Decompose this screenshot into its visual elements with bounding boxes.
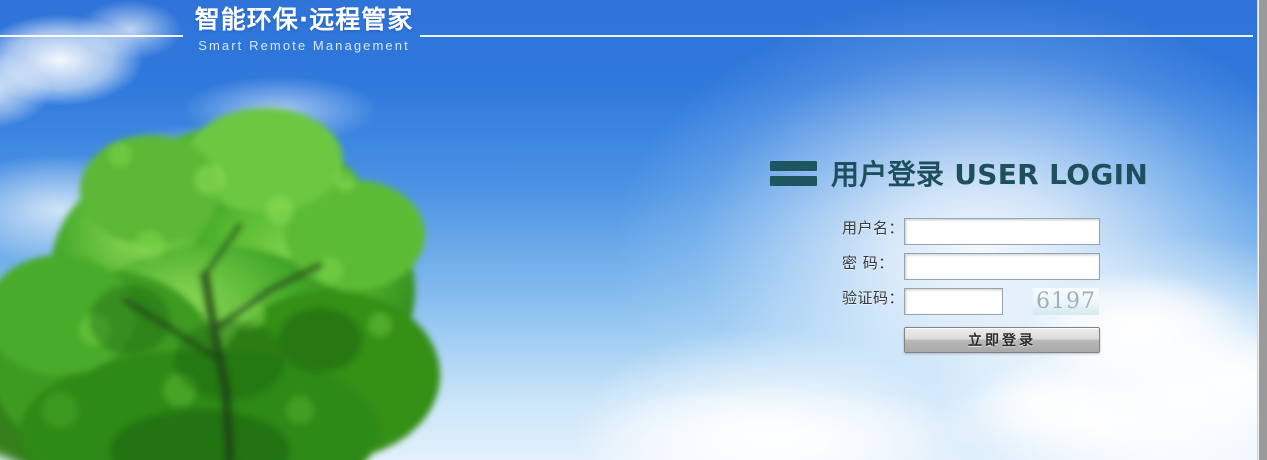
captcha-input[interactable]	[904, 288, 1003, 315]
header-rule-right	[420, 35, 1253, 37]
submit-row: 立即登录	[904, 327, 1170, 353]
brand-title-cn: 智能环保·远程管家	[190, 6, 418, 34]
login-button[interactable]: 立即登录	[904, 327, 1100, 353]
vertical-scrollbar[interactable]	[1257, 0, 1267, 460]
username-input[interactable]	[904, 218, 1100, 245]
brand-subtitle-en: Smart Remote Management	[190, 37, 418, 54]
password-input[interactable]	[904, 253, 1100, 280]
username-label: 用户名：	[842, 218, 904, 238]
password-label: 密 码：	[842, 253, 904, 273]
captcha-image[interactable]: 6197	[1033, 288, 1099, 315]
header-rule-left	[0, 35, 183, 37]
field-row-username: 用户名：	[842, 218, 1170, 245]
captcha-label: 验证码：	[842, 288, 904, 308]
login-heading: 用户登录 USER LOGIN	[770, 150, 1170, 196]
login-panel: 用户登录 USER LOGIN 用户名： 密 码： 验证码： 6197 立即登录	[770, 150, 1170, 353]
brand-block: 智能环保·远程管家 Smart Remote Management	[190, 6, 418, 54]
two-bars-icon	[770, 161, 817, 186]
site-header: 智能环保·远程管家 Smart Remote Management	[0, 0, 1257, 62]
login-page: 智能环保·远程管家 Smart Remote Management 用户登录 U…	[0, 0, 1267, 460]
login-title: 用户登录 USER LOGIN	[831, 153, 1148, 193]
scrollbar-thumb[interactable]	[1259, 0, 1267, 460]
field-row-captcha: 验证码： 6197	[842, 288, 1170, 315]
field-row-password: 密 码：	[842, 253, 1170, 280]
login-form: 用户名： 密 码： 验证码： 6197 立即登录	[842, 218, 1170, 353]
